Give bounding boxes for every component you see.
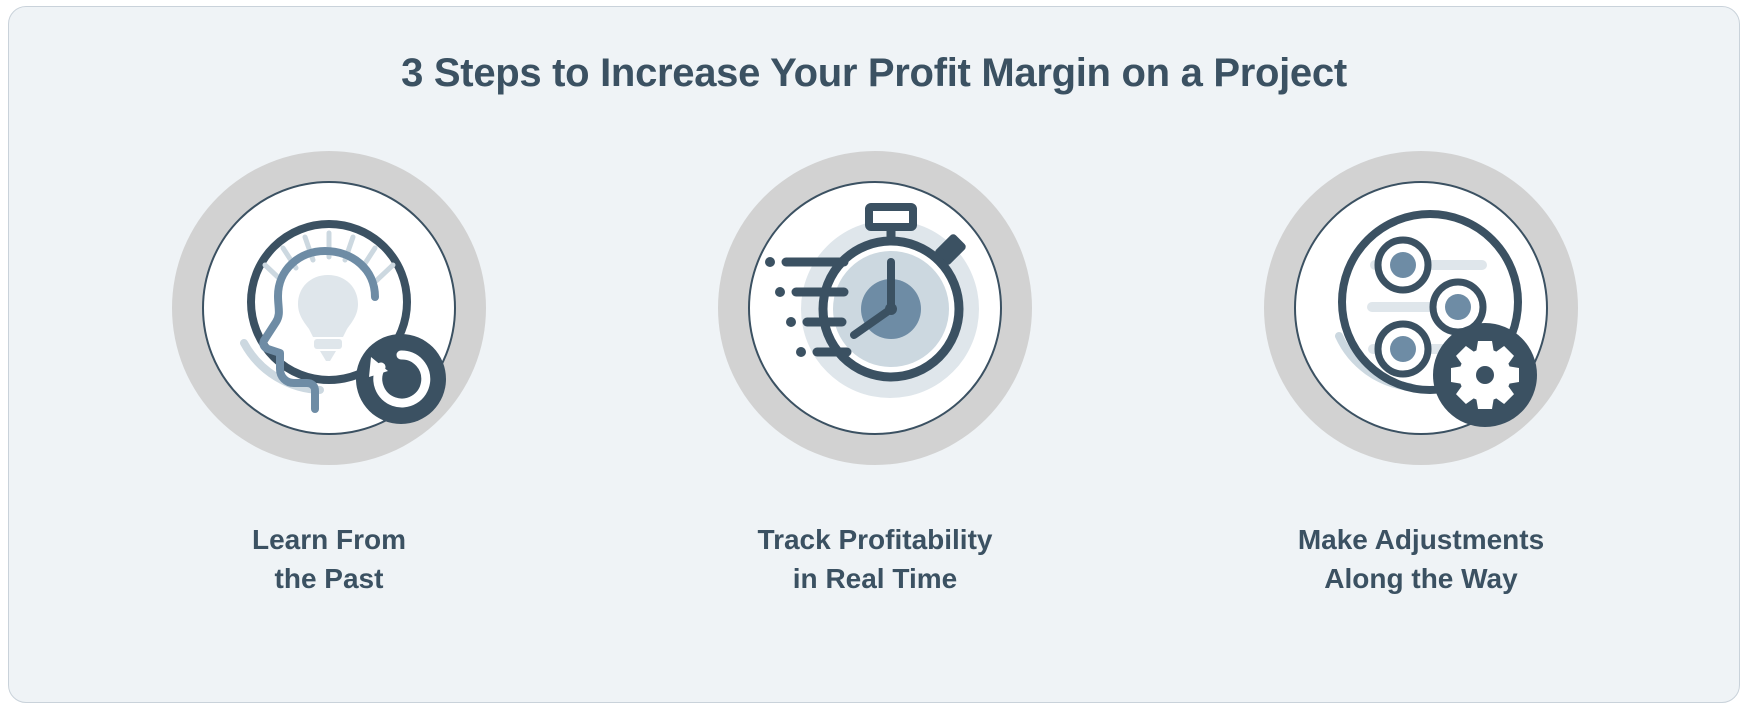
step-caption-2: Track Profitability in Real Time — [758, 521, 993, 598]
step-item-3: Make Adjustments Along the Way — [1171, 147, 1671, 598]
sliders-gear-icon — [1260, 147, 1582, 469]
page-title: 3 Steps to Increase Your Profit Margin o… — [9, 51, 1739, 96]
step-caption-3: Make Adjustments Along the Way — [1298, 521, 1544, 598]
step-item-1: Learn From the Past — [79, 147, 579, 598]
steps-row: Learn From the Past — [79, 147, 1671, 598]
step-caption-1: Learn From the Past — [252, 521, 406, 598]
infographic-card: 3 Steps to Increase Your Profit Margin o… — [8, 6, 1740, 703]
step-item-2: Track Profitability in Real Time — [625, 147, 1125, 598]
head-lightbulb-history-icon — [168, 147, 490, 469]
stopwatch-speed-icon — [714, 147, 1036, 469]
